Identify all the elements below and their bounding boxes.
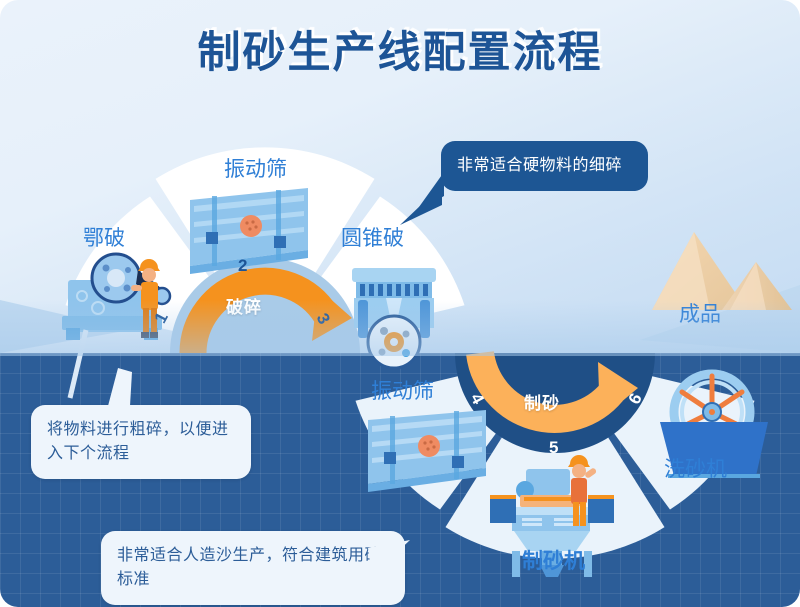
machine-label-vibrating-screen-top: 振动筛	[224, 153, 287, 183]
machine-label-sand-washer: 洗砂机	[664, 453, 727, 483]
page-title: 制砂生产线配置流程	[0, 18, 800, 80]
vibrating-screen-icon-bottom	[368, 410, 486, 492]
machine-label-cone-crusher: 圆锥破	[341, 222, 404, 252]
callout-sand-maker-note: 非常适合人造沙生产，符合建筑用砂标准	[101, 531, 405, 605]
machine-label-vibrating-screen-bottom: 振动筛	[371, 375, 434, 405]
infographic-stage: 制砂生产线配置流程 破碎 制砂 1 2 3 4 5 6 鄂破 振动筛 圆锥破 振…	[0, 0, 800, 607]
machine-label-jaw-crusher: 鄂破	[83, 222, 125, 252]
horizon-haze	[0, 300, 800, 356]
machine-label-sand-maker: 制砂机	[522, 545, 585, 575]
callout-cone-crusher-note: 非常适合硬物料的细碎	[441, 141, 648, 191]
callout-jaw-crusher-note: 将物料进行粗碎，以便进入下个流程	[31, 405, 251, 479]
step-number-2: 2	[238, 256, 247, 276]
step-number-5: 5	[549, 438, 558, 458]
sand-pile-icon	[652, 232, 792, 310]
right-hub-label: 制砂	[524, 389, 560, 414]
